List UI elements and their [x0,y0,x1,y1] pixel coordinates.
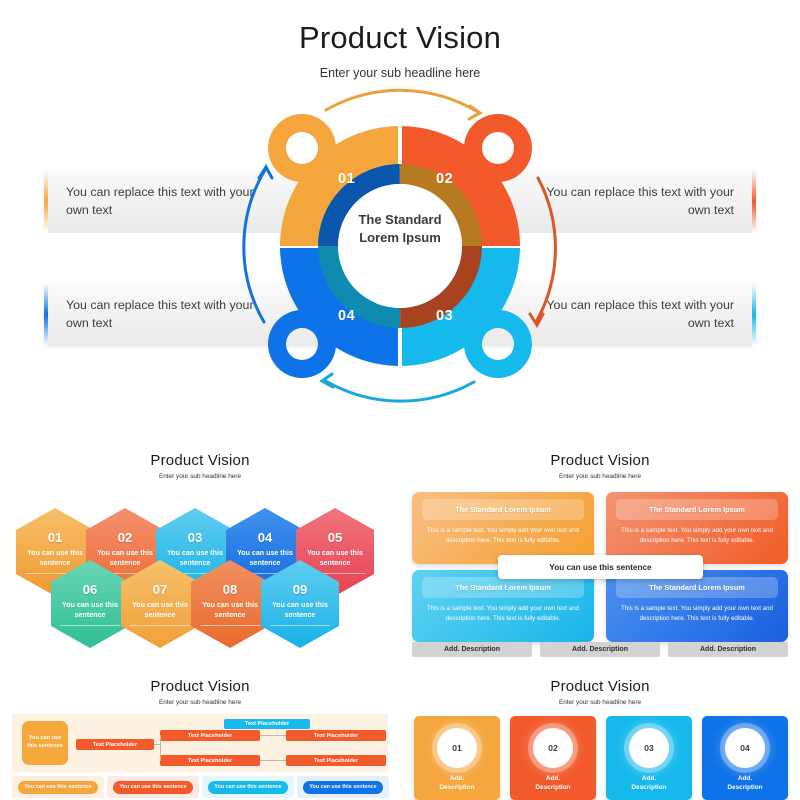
card-title: The Standard Lorem Ipsum [422,499,584,520]
hexagon-slide-title: Product Vision [0,452,400,469]
tree-box-3[interactable]: Text Placeholder [160,730,260,741]
card-title: The Standard Lorem Ipsum [616,499,778,520]
tree-box-2[interactable]: Text Placeholder [76,739,154,750]
center-label: The Standard Lorem Ipsum [335,211,465,247]
number-card-02[interactable]: 02Add.Description [510,716,596,800]
tree-connector-4 [260,760,286,761]
number-badge: 04 [725,728,765,768]
card-desc-line2: Description [439,784,474,793]
hexagon-number: 07 [153,582,167,597]
hexagon-number: 01 [48,530,62,545]
hexagon-number: 09 [293,582,307,597]
numbercards-group: 01Add.Description02Add.Description03Add.… [414,716,786,800]
pill-button-2[interactable]: You can use this sentence [113,781,193,794]
gradient-card-1[interactable]: The Standard Lorem IpsumThis is a sample… [412,492,594,564]
pill-button-1[interactable]: You can use this sentence [18,781,98,794]
hexagon-number: 04 [258,530,272,545]
tree-root-box[interactable]: You can use this sentence [22,721,68,765]
slide-deck-page: Product Vision Enter your sub headline h… [0,0,800,800]
center-sentence-pill[interactable]: You can use this sentence [498,555,703,579]
card-description: Add.Description [631,775,666,793]
card-body: This is a sample text. You simply add yo… [422,604,584,624]
card-description: Add.Description [535,775,570,793]
hexagon-label: You can use this sentence [130,601,190,626]
hexagon-slide: Product Vision Enter your sub headline h… [0,452,400,662]
add-description-bar-1[interactable]: Add. Description [412,642,532,657]
gradient-card-2[interactable]: The Standard Lorem IpsumThis is a sample… [606,492,788,564]
card-description: Add.Description [439,775,474,793]
tree-pill-row: You can use this sentenceYou can use thi… [12,776,388,798]
center-line-2: Lorem Ipsum [335,229,465,247]
card-title: The Standard Lorem Ipsum [422,577,584,598]
card-desc-line1: Add. [631,775,666,784]
center-line-1: The Standard [335,211,465,229]
pill-cell-3: You can use this sentence [202,776,294,798]
card-desc-line1: Add. [535,775,570,784]
tree-slide-title: Product Vision [0,678,400,695]
hexagon-number: 06 [83,582,97,597]
card-desc-line1: Add. [439,775,474,784]
accent-edge-01 [44,170,48,233]
page-title: Product Vision [0,0,800,56]
number-badge: 01 [437,728,477,768]
circular-diagram: The Standard Lorem Ipsum 01 02 03 04 [240,86,560,406]
numbercards-slide: Product Vision Enter your sub headline h… [400,678,800,800]
quadrant-number-02: 02 [436,171,453,187]
numbercards-slide-subtitle: Enter your sub headline here [400,695,800,706]
tree-connector-2 [160,735,161,761]
tree-box-6[interactable]: Text Placeholder [286,755,386,766]
quadrant-number-01: 01 [338,171,355,187]
hexagon-slide-subtitle: Enter your sub headline here [0,469,400,480]
hexagon-number: 02 [118,530,132,545]
tree-box-1[interactable]: Text Placeholder [224,719,310,729]
hexagon-number: 03 [188,530,202,545]
accent-edge-02 [752,170,756,233]
card-desc-line2: Description [535,784,570,793]
card-title: The Standard Lorem Ipsum [616,577,778,598]
pill-cell-2: You can use this sentence [107,776,199,798]
card-desc-line1: Add. [727,775,762,784]
gradient-card-3[interactable]: The Standard Lorem IpsumThis is a sample… [412,570,594,642]
page-subtitle: Enter your sub headline here [0,56,800,80]
quadrant-number-04: 04 [338,308,355,324]
pill-button-4[interactable]: You can use this sentence [303,781,383,794]
hero-slide: Product Vision Enter your sub headline h… [0,0,800,430]
tree-connector-3 [260,735,286,736]
tree-box-5[interactable]: Text Placeholder [286,730,386,741]
number-card-01[interactable]: 01Add.Description [414,716,500,800]
cards-slide-title: Product Vision [400,452,800,469]
number-card-03[interactable]: 03Add.Description [606,716,692,800]
hexagon-number: 08 [223,582,237,597]
cards-group: You can use this sentence The Standard L… [412,492,788,660]
hexagon-label: You can use this sentence [270,601,330,626]
hexagon-group: 01You can use this sentence02You can use… [0,494,400,654]
pill-cell-4: You can use this sentence [297,776,389,798]
quadrant-number-03: 03 [436,308,453,324]
hexagon-label: You can use this sentence [200,601,260,626]
cards-slide-subtitle: Enter your sub headline here [400,469,800,480]
hexagon-label: You can use this sentence [60,601,120,626]
card-body: This is a sample text. You simply add yo… [616,604,778,624]
tree-diagram: You can use this sentenceText Placeholde… [12,714,388,798]
pill-cell-1: You can use this sentence [12,776,104,798]
gradient-card-4[interactable]: The Standard Lorem IpsumThis is a sample… [606,570,788,642]
add-description-bar-2[interactable]: Add. Description [540,642,660,657]
tree-box-4[interactable]: Text Placeholder [160,755,260,766]
cards-slide: Product Vision Enter your sub headline h… [400,452,800,662]
accent-edge-04 [44,283,48,346]
card-desc-line2: Description [727,784,762,793]
add-description-bar-3[interactable]: Add. Description [668,642,788,657]
tree-slide-subtitle: Enter your sub headline here [0,695,400,706]
card-desc-line2: Description [631,784,666,793]
pill-button-3[interactable]: You can use this sentence [208,781,288,794]
number-card-04[interactable]: 04Add.Description [702,716,788,800]
hexagon-number: 05 [328,530,342,545]
tree-slide: Product Vision Enter your sub headline h… [0,678,400,800]
card-body: This is a sample text. You simply add yo… [616,526,778,546]
numbercards-slide-title: Product Vision [400,678,800,695]
card-body: This is a sample text. You simply add yo… [422,526,584,546]
hero-stage: You can replace this text with your own … [0,86,800,426]
accent-edge-03 [752,283,756,346]
number-badge: 03 [629,728,669,768]
number-badge: 02 [533,728,573,768]
card-description: Add.Description [727,775,762,793]
